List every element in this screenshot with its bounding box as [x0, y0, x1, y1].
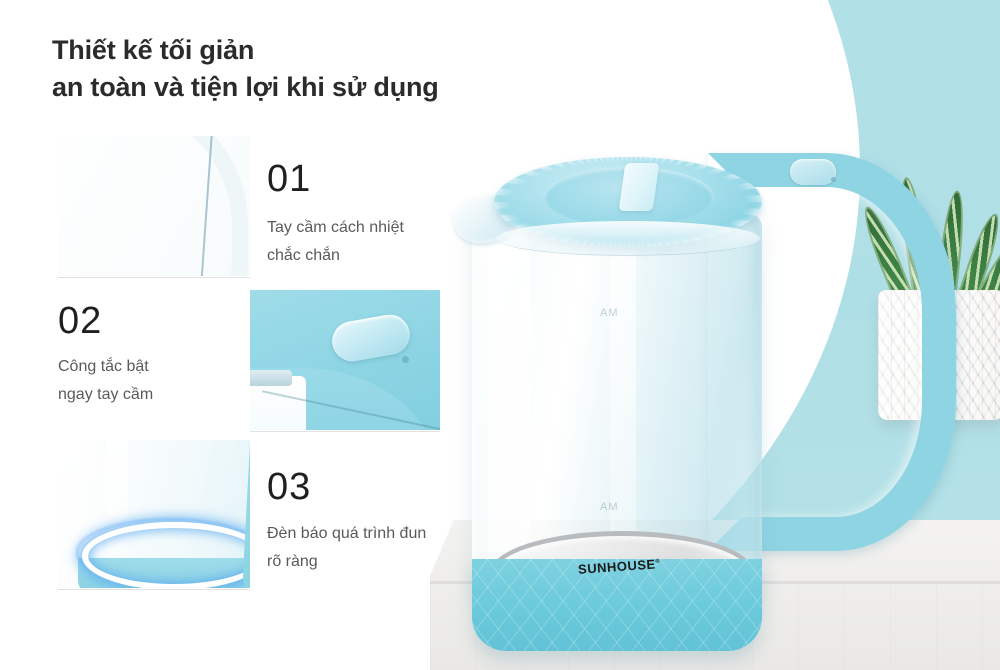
feature-caption-02-line2: ngay tay cầm: [58, 381, 258, 409]
feature-caption-01-line1: Tay cầm cách nhiệt: [267, 214, 487, 242]
feature-thumbnail-02: [250, 290, 440, 430]
feature-caption-03: Đèn báo quá trình đun rõ ràng: [267, 520, 497, 575]
feature-caption-01-line2: chắc chắn: [267, 242, 487, 270]
kettle-switch-indicator-dot: [831, 177, 836, 182]
kettle-lid-rim: [496, 221, 760, 256]
feature-caption-01: Tay cầm cách nhiệt chắc chắn: [267, 214, 487, 269]
product-photo-panel: AM AM SUNHOUSE®: [430, 0, 1000, 670]
feature-caption-02-line1: Công tắc bật: [58, 353, 258, 381]
feature-caption-03-line1: Đèn báo quá trình đun: [267, 520, 497, 548]
kettle-volume-mark: AM: [600, 307, 619, 319]
led-indicator-ring: [82, 522, 250, 588]
switch-indicator-dot: [402, 356, 409, 363]
feature-number-02: 02: [58, 302, 102, 340]
product-feature-banner: AM AM SUNHOUSE® Thiết kế tối giản an toà…: [0, 0, 1000, 670]
kettle-volume-mark: AM: [600, 501, 619, 513]
feature-number-01: 01: [267, 160, 311, 198]
feature-caption-03-line2: rõ ràng: [267, 548, 497, 576]
feature-number-03: 03: [267, 468, 311, 506]
handle-closeup-shape: [92, 136, 250, 276]
trademark-symbol: ®: [655, 559, 660, 565]
page-title: Thiết kế tối giản an toàn và tiện lợi kh…: [52, 32, 439, 107]
headline-line-2: an toàn và tiện lợi khi sử dụng: [52, 69, 439, 106]
feature-divider-01: [58, 277, 250, 278]
product-kettle: AM AM SUNHOUSE®: [460, 135, 890, 625]
feature-caption-02: Công tắc bật ngay tay cầm: [58, 353, 258, 408]
feature-divider-02: [250, 431, 440, 432]
headline-line-1: Thiết kế tối giản: [52, 32, 439, 69]
kettle-power-switch: [790, 159, 836, 185]
lid-open-tab: [619, 163, 660, 211]
lid-clip: [250, 370, 292, 386]
feature-divider-03: [58, 589, 250, 590]
kettle-glass-highlight-secondary: [610, 227, 636, 567]
feature-thumbnail-03: [58, 440, 250, 588]
feature-thumbnail-01: [58, 136, 250, 276]
